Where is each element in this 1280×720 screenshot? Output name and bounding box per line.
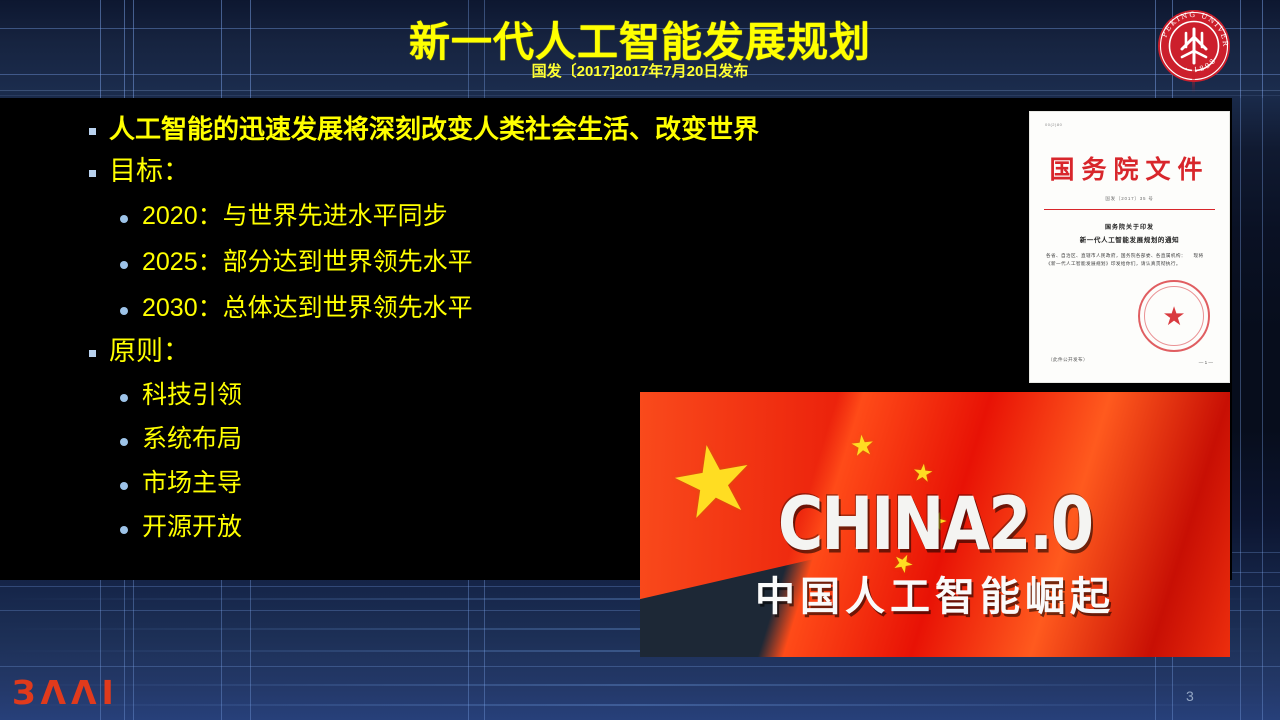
doc-number: 国发〔2017〕35 号 [1030, 196, 1229, 202]
bullet-level1: 原则： [89, 336, 190, 366]
doc-title-line2: 新一代人工智能发展规划的通知 [1030, 234, 1229, 244]
square-bullet-icon [89, 350, 96, 357]
round-bullet-icon [120, 261, 128, 269]
round-bullet-icon [120, 482, 128, 490]
bullet-level2: 科技引领 [120, 381, 242, 409]
slide-header: 新一代人工智能发展规划 国发〔2017]2017年7月20日发布 [0, 0, 1280, 98]
seal-stem [1192, 67, 1195, 93]
page-title: 新一代人工智能发展规划 [0, 8, 1280, 68]
bullet-level2: 2030：总体达到世界领先水平 [120, 294, 473, 322]
square-bullet-icon [89, 128, 96, 135]
round-bullet-icon [120, 307, 128, 315]
bullet-text: 2025：部分达到世界领先水平 [142, 248, 473, 276]
bullet-text: 2020：与世界先进水平同步 [142, 202, 448, 230]
baai-logo: ЗΛΛI [12, 673, 119, 712]
doc-body-text: 各省、自治区、直辖市人民政府，国务院各部委、各直属机构： 现将《新一代人工智能发… [1046, 252, 1213, 268]
bullet-text: 2030：总体达到世界领先水平 [142, 294, 473, 322]
doc-code: 00(2)80 [1045, 122, 1062, 127]
doc-divider [1044, 209, 1215, 210]
bullet-text: 原则： [109, 336, 190, 366]
bullet-text: 开源开放 [142, 513, 242, 541]
bullet-text: 系统布局 [142, 425, 242, 453]
state-council-document-image: 00(2)80 国务院文件 国发〔2017〕35 号 国务院关于印发 新一代人工… [1029, 111, 1230, 383]
china-ai-banner-image: ★ ★ ★ ★ ★ CHINA2.0 中国人工智能崛起 [640, 392, 1230, 657]
flag-small-star-icon: ★ [849, 431, 877, 461]
bullet-text: 人工智能的迅速发展将深刻改变人类社会生活、改变世界 [109, 114, 759, 144]
seal-star-icon: ★ [1162, 303, 1185, 329]
slide: 新一代人工智能发展规划 国发〔2017]2017年7月20日发布 PEKING … [0, 0, 1280, 720]
doc-footer-note: （此件公开发布） [1048, 357, 1088, 363]
round-bullet-icon [120, 215, 128, 223]
page-subtitle: 国发〔2017]2017年7月20日发布 [0, 60, 1280, 81]
round-bullet-icon [120, 438, 128, 446]
bullet-level1: 人工智能的迅速发展将深刻改变人类社会生活、改变世界 [89, 114, 759, 144]
doc-page-mark: — 1 — [1199, 360, 1213, 365]
round-bullet-icon [120, 394, 128, 402]
bullet-text: 目标： [109, 156, 190, 186]
state-council-seal-icon: ★ [1138, 280, 1210, 352]
round-bullet-icon [120, 526, 128, 534]
square-bullet-icon [89, 170, 96, 177]
doc-title-line1: 国务院关于印发 [1030, 222, 1229, 231]
bullet-level2: 开源开放 [120, 513, 242, 541]
peking-university-logo-icon: PEKING UNIVERSITY · 1898 · [1155, 7, 1233, 85]
banner-headline-en: CHINA2.0 [640, 480, 1230, 566]
bullet-level2: 市场主导 [120, 469, 242, 497]
doc-masthead: 国务院文件 [1030, 150, 1229, 186]
bullet-level2: 系统布局 [120, 425, 242, 453]
banner-headline-cn: 中国人工智能崛起 [640, 564, 1230, 622]
slide-page-number: 3 [1186, 688, 1194, 704]
bullet-level2: 2025：部分达到世界领先水平 [120, 248, 473, 276]
bullet-text: 市场主导 [142, 469, 242, 497]
bullet-text: 科技引领 [142, 381, 242, 409]
bullet-level1: 目标： [89, 156, 190, 186]
bullet-level2: 2020：与世界先进水平同步 [120, 202, 448, 230]
